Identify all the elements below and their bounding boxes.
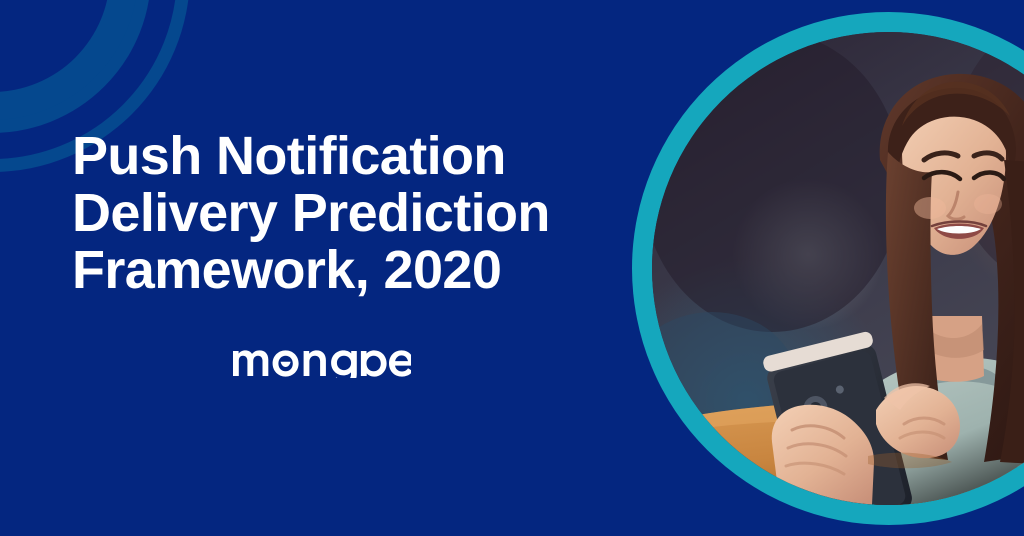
arc-navy-band — [0, 0, 164, 146]
woman-using-smartphone-illustration — [652, 32, 1024, 505]
moengage-logo: moengage — [231, 338, 411, 378]
blog-banner: Push Notification Delivery Prediction Fr… — [0, 0, 1024, 536]
photo-circle-image — [652, 32, 1024, 505]
moengage-wordmark-icon — [231, 338, 411, 378]
arc-inner-light — [0, 0, 138, 120]
photo-circle-ring — [632, 12, 1024, 525]
page-title: Push Notification Delivery Prediction Fr… — [72, 128, 612, 299]
arc-inner-navy — [0, 0, 110, 92]
